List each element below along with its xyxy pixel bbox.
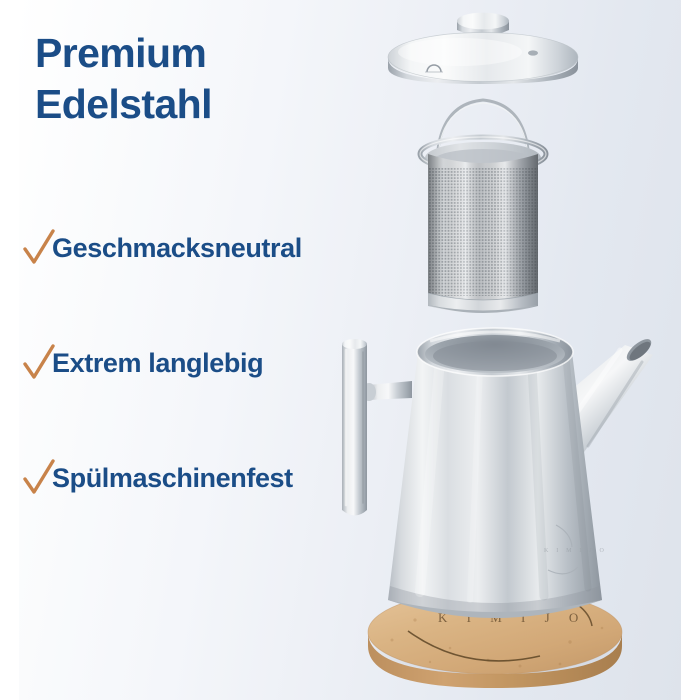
feature-label-3: Spülmaschinenfest	[52, 463, 293, 494]
svg-text:K I M I J O: K I M I J O	[544, 548, 607, 554]
feature-label-1: Geschmacksneutral	[52, 233, 302, 264]
infuser-basket	[420, 154, 550, 313]
product-image: K I M I J O	[320, 0, 700, 700]
background-edge-left	[0, 0, 19, 700]
page-title: Premium Edelstahl	[35, 28, 365, 131]
headline-line-1: Premium	[35, 28, 365, 79]
check-icon	[22, 344, 56, 384]
feature-label-2: Extrem langlebig	[52, 348, 263, 379]
check-icon	[22, 459, 56, 499]
product-marketing-image: Premium Edelstahl Geschmacksneutral Extr…	[0, 0, 700, 700]
lid-plate	[388, 33, 578, 85]
headline-line-2: Edelstahl	[35, 79, 365, 130]
lid-group	[388, 13, 578, 84]
lid-steam-hole	[528, 50, 538, 55]
infuser-group	[420, 100, 550, 313]
teapot-group: K I M I J O	[342, 328, 655, 618]
check-icon	[22, 229, 56, 269]
pot-rim	[417, 328, 573, 376]
